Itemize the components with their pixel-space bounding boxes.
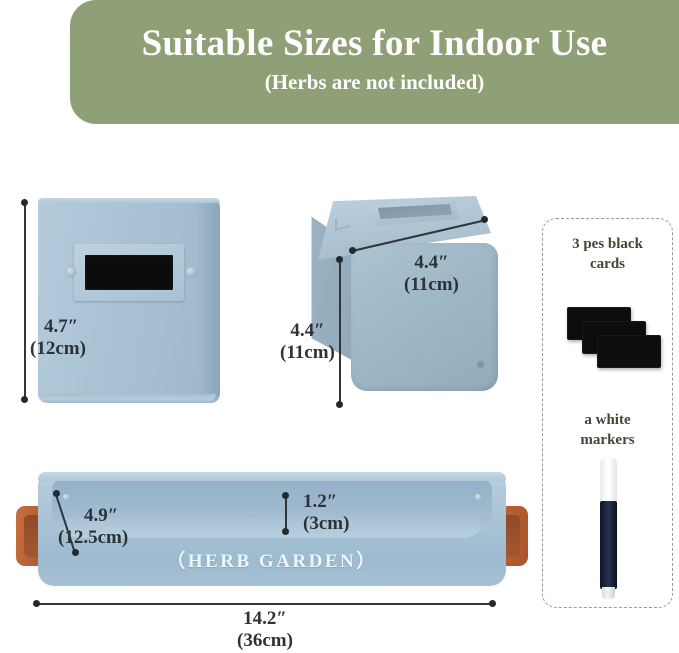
dimension-dot bbox=[481, 216, 488, 223]
dimension-dot bbox=[349, 247, 356, 254]
square-planter-angled-view bbox=[295, 196, 510, 411]
dimension-dot bbox=[21, 199, 28, 206]
drainage-hole-icon bbox=[477, 361, 484, 368]
white-marker-pen bbox=[600, 457, 617, 599]
tray-wall-height-label: 1.2″ (3cm) bbox=[303, 491, 349, 536]
label-holder-frame bbox=[74, 244, 184, 301]
square-planter-front-view bbox=[38, 198, 220, 403]
dimension-dot bbox=[53, 490, 60, 497]
iso-planter-width-label: 4.4″ (11cm) bbox=[404, 252, 459, 297]
marker-cap bbox=[600, 457, 617, 502]
tray-screw-right-icon bbox=[475, 494, 481, 500]
front-planter-height-line bbox=[24, 202, 26, 399]
accessories-panel: 3 pes black cards a white markers bbox=[542, 218, 673, 608]
planter-base-rim bbox=[42, 394, 216, 403]
dimension-dot bbox=[336, 256, 343, 263]
dimension-dot bbox=[282, 528, 289, 535]
dimension-dot bbox=[336, 401, 343, 408]
tray-wall-height-line bbox=[285, 495, 287, 531]
planter-side-face bbox=[196, 200, 220, 401]
rivet-right-icon bbox=[186, 267, 196, 277]
white-marker-title: a white markers bbox=[543, 411, 672, 450]
iso-planter-height-line bbox=[339, 259, 341, 404]
dimension-dot bbox=[72, 549, 79, 556]
tray-embossed-label: （HERB GARDEN） bbox=[38, 546, 506, 573]
tray-screw-left-icon bbox=[63, 494, 69, 500]
dimension-dot bbox=[282, 492, 289, 499]
page-subtitle: (Herbs are not included) bbox=[265, 70, 485, 95]
front-planter-height-label: 4.7″ (12cm) bbox=[44, 316, 86, 361]
tray-depth-label: 4.9″ (12.5cm) bbox=[78, 505, 128, 550]
tray-top-lip bbox=[38, 472, 506, 481]
marker-tip bbox=[602, 587, 615, 599]
marker-barrel bbox=[600, 501, 617, 589]
black-label-card bbox=[85, 255, 173, 290]
planter-top-rim bbox=[38, 198, 220, 203]
page-title: Suitable Sizes for Indoor Use bbox=[142, 25, 608, 64]
iso-planter-height-label: 4.4″ (11cm) bbox=[280, 320, 335, 365]
rivet-left-icon bbox=[66, 267, 76, 277]
dimension-dot bbox=[33, 600, 40, 607]
black-cards-title: 3 pes black cards bbox=[543, 235, 672, 274]
tray-length-label: 14.2″ (36cm) bbox=[0, 608, 530, 653]
tray-length-line bbox=[36, 603, 494, 605]
dimension-dot bbox=[489, 600, 496, 607]
dimension-dot bbox=[21, 396, 28, 403]
black-card-item bbox=[597, 335, 661, 368]
header-banner: Suitable Sizes for Indoor Use (Herbs are… bbox=[70, 0, 679, 124]
